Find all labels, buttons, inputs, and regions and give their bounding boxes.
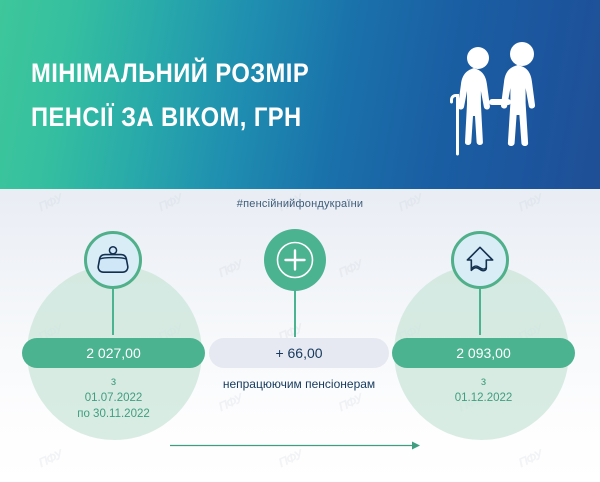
plus-icon <box>264 229 326 291</box>
value-pill-after[interactable]: 2 093,00 <box>392 338 575 368</box>
page-title: МІНІМАЛЬНИЙ РОЗМІР ПЕНСІЇ ЗА ВІКОМ, ГРН <box>31 52 348 139</box>
value-pill-before[interactable]: 2 027,00 <box>22 338 205 368</box>
caption-increase-note: непрацюючим пенсіонерам <box>209 376 389 393</box>
watermark-text: ПФУ <box>216 257 244 281</box>
connector-stem-left <box>112 285 114 335</box>
watermark-text: ПФУ <box>336 257 364 281</box>
caption-before-period: з 01.07.2022 по 30.11.2022 <box>22 375 205 423</box>
watermark-text: ПФУ <box>276 447 304 471</box>
content-panel: ПФУ ПФУ ПФУ ПФУ ПФУ ПФУ ПФУ ПФУ ПФУ ПФУ … <box>0 189 600 482</box>
infographic-root: МІНІМАЛЬНИЙ РОЗМІР ПЕНСІЇ ЗА ВІКОМ, ГРН <box>0 0 600 482</box>
watermark-text: ПФУ <box>216 391 244 415</box>
connector-stem-right <box>479 285 481 335</box>
caption-after-period: з 01.12.2022 <box>392 375 575 407</box>
watermark-text: ПФУ <box>516 447 544 471</box>
value-pill-increase[interactable]: + 66,00 <box>209 338 389 368</box>
watermark-text: ПФУ <box>36 447 64 471</box>
hashtag-label: #пенсійнийфондукраїни <box>0 198 600 210</box>
watermark-text: ПФУ <box>336 391 364 415</box>
connector-stem-center <box>294 289 296 337</box>
purse-icon <box>84 231 142 289</box>
flow-arrow-icon <box>170 437 420 446</box>
up-arrow-icon <box>451 231 509 289</box>
header-banner: МІНІМАЛЬНИЙ РОЗМІР ПЕНСІЇ ЗА ВІКОМ, ГРН <box>0 0 600 189</box>
elderly-couple-icon <box>434 36 564 166</box>
